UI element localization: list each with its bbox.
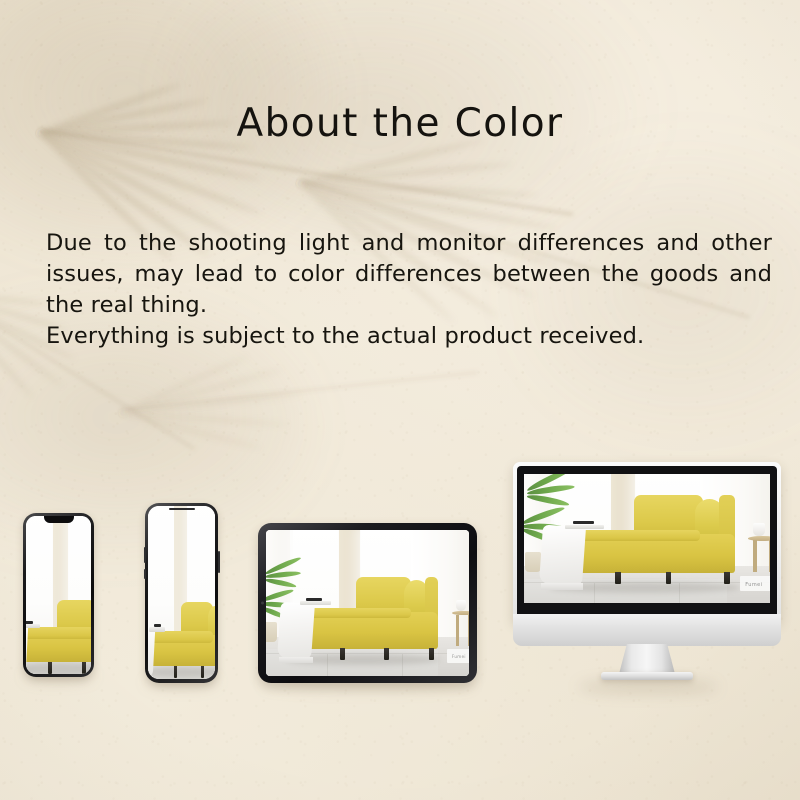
device-smartphone-notch[interactable] bbox=[23, 513, 94, 677]
phone2-assistant-button[interactable] bbox=[144, 569, 146, 579]
device-smartphone-bezelless[interactable] bbox=[145, 503, 218, 683]
phone1-notch bbox=[44, 516, 74, 523]
device-tablet[interactable]: Fumei bbox=[258, 523, 477, 683]
body-paragraph-1: Due to the shooting light and monitor di… bbox=[46, 228, 772, 321]
monitor-panel: Fumei bbox=[513, 462, 781, 622]
page-root: About the Color Due to the shooting ligh… bbox=[0, 0, 800, 800]
phone1-product-photo bbox=[26, 516, 91, 674]
body-paragraph-2: Everything is subject to the actual prod… bbox=[46, 321, 772, 352]
body-copy: Due to the shooting light and monitor di… bbox=[46, 228, 772, 352]
phone2-product-photo bbox=[148, 506, 215, 679]
monitor-stand-foot bbox=[601, 672, 693, 680]
tablet-screen[interactable]: Fumei bbox=[266, 530, 469, 676]
phone2-power-button[interactable] bbox=[218, 551, 220, 573]
page-title: About the Color bbox=[0, 101, 800, 146]
tablet-product-photo: Fumei bbox=[266, 530, 469, 676]
device-desktop-monitor[interactable]: Fumei bbox=[513, 462, 781, 688]
tablet-front-camera-icon bbox=[261, 602, 264, 605]
tablet-watermark: Fumei bbox=[452, 654, 466, 659]
monitor-base-plate bbox=[513, 614, 781, 646]
phone1-screen[interactable] bbox=[26, 516, 91, 674]
monitor-product-photo: Fumei bbox=[524, 474, 770, 603]
phone2-earpiece bbox=[169, 508, 195, 510]
monitor-stand-neck bbox=[619, 644, 675, 674]
monitor-watermark: Fumei bbox=[745, 582, 762, 588]
phone2-volume-button[interactable] bbox=[144, 547, 146, 563]
monitor-screen[interactable]: Fumei bbox=[524, 474, 770, 603]
phone2-screen[interactable] bbox=[148, 506, 215, 679]
monitor-bezel: Fumei bbox=[517, 466, 777, 618]
